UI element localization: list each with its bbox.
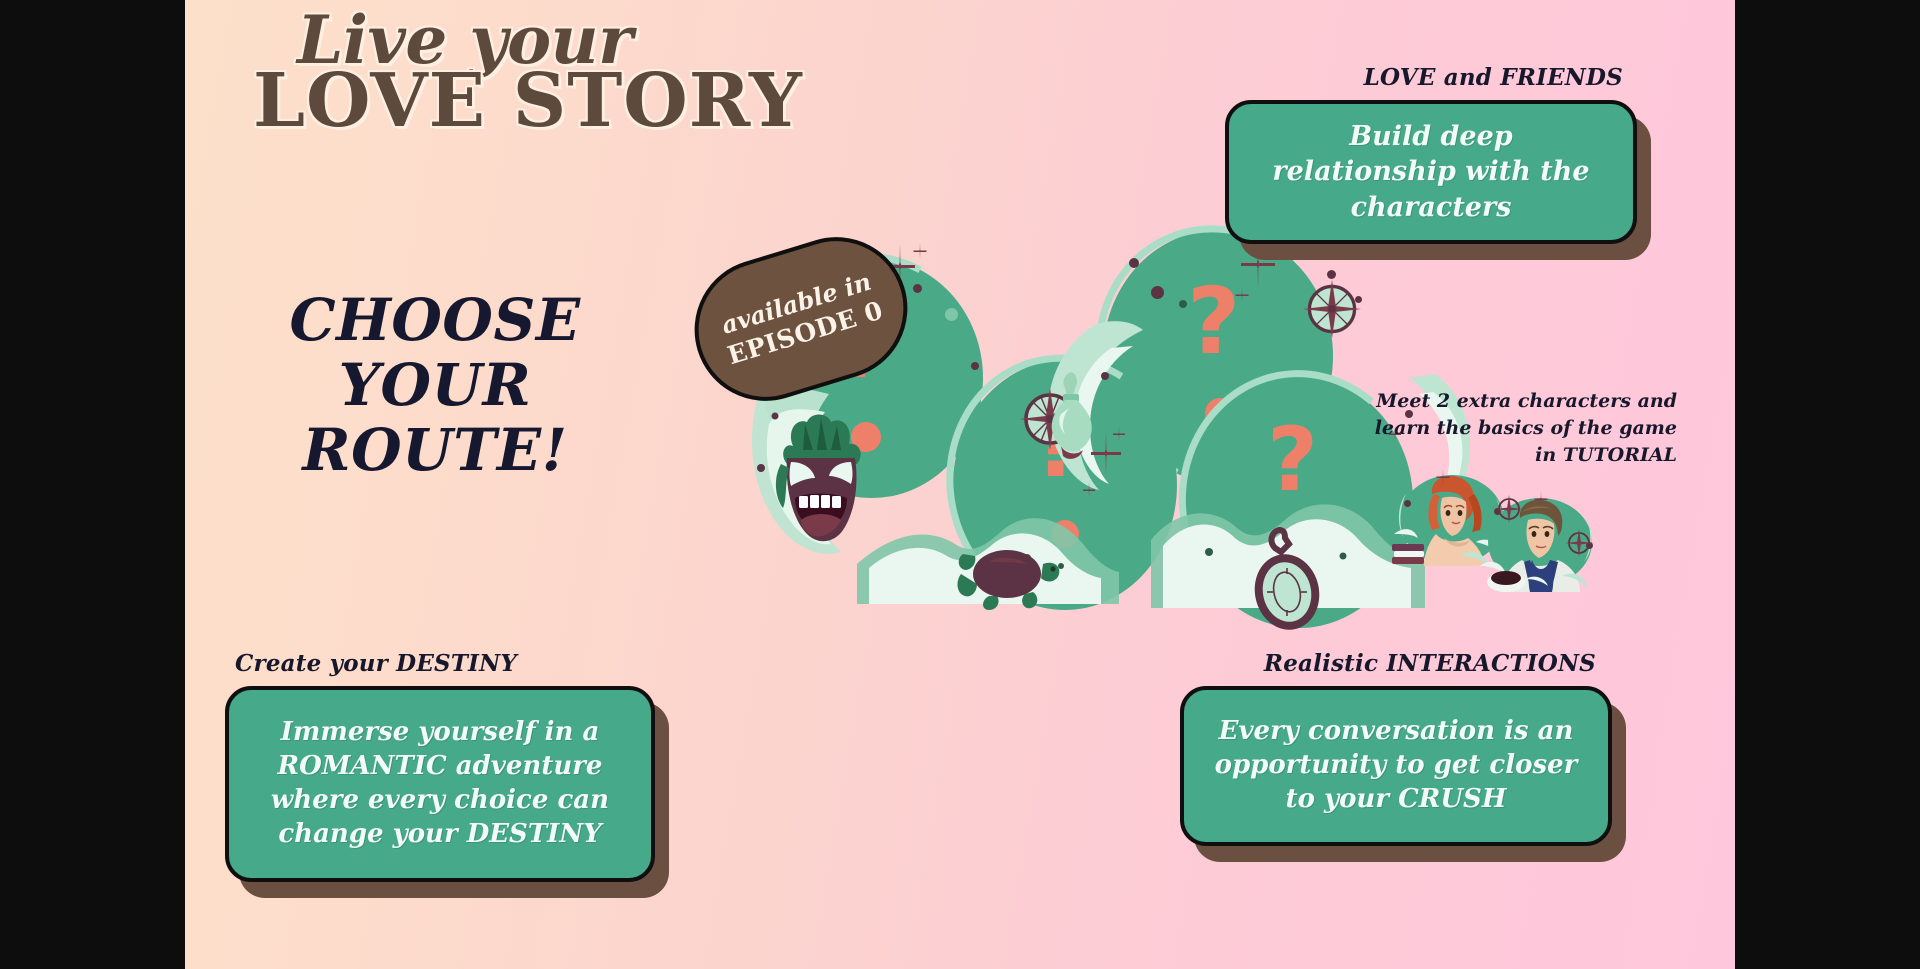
- tiki-mask-icon: [773, 412, 871, 552]
- sparkle-icon: [1241, 238, 1275, 290]
- route-line-2: YOUR: [240, 353, 630, 418]
- compass-rose-icon: [1564, 528, 1594, 558]
- interactions-card-text: Every conversation is an opportunity to …: [1210, 715, 1582, 816]
- letterbox-bar-left: [0, 0, 185, 969]
- sparkle-icon: [1437, 469, 1450, 486]
- interactions-card[interactable]: Every conversation is an opportunity to …: [1180, 686, 1612, 846]
- interactions-label: Realistic INTERACTIONS: [1264, 650, 1596, 677]
- sparkle-icon: [1083, 482, 1095, 498]
- tutorial-character-avatars: [1390, 468, 1600, 593]
- route-line-1: CHOOSE: [240, 288, 630, 353]
- destiny-label: Create your DESTINY: [235, 650, 517, 677]
- sparkle-icon: [914, 243, 927, 260]
- decor-dot: [1151, 286, 1164, 299]
- sparkle-icon: [1236, 287, 1249, 304]
- compass-rose-icon: [1301, 278, 1363, 340]
- love-friends-card-wrapper: LOVE and FRIENDS Build deep relationship…: [1225, 100, 1637, 244]
- page-title: Live your LOVE STORY: [245, 8, 865, 138]
- promo-canvas: Live your LOVE STORY CHOOSE YOUR ROUTE! …: [185, 0, 1735, 969]
- sparkle-icon: [1113, 426, 1125, 442]
- destiny-card[interactable]: Immerse yourself in a ROMANTIC adventure…: [225, 686, 655, 882]
- love-friends-card-text: Build deep relationship with the charact…: [1255, 119, 1607, 224]
- decor-dot: [1129, 258, 1139, 268]
- decor-dot: [971, 362, 979, 370]
- interactions-card-wrapper: Realistic INTERACTIONS Every conversatio…: [1180, 686, 1612, 846]
- decor-dot: [1179, 300, 1187, 308]
- headline-line-2: LOVE STORY: [245, 66, 865, 138]
- destiny-card-text: Immerse yourself in a ROMANTIC adventure…: [255, 716, 625, 851]
- compass-rose-icon: [1494, 494, 1524, 524]
- potion-bottle-icon: [1045, 370, 1103, 466]
- pocket-watch-icon: [1247, 526, 1331, 636]
- love-friends-card[interactable]: Build deep relationship with the charact…: [1225, 100, 1637, 244]
- sea-turtle-icon: [955, 536, 1065, 612]
- decor-dot: [945, 308, 958, 321]
- route-heading: CHOOSE YOUR ROUTE!: [240, 288, 630, 483]
- letterbox-bar-right: [1735, 0, 1920, 969]
- tutorial-description: Meet 2 extra characters and learn the ba…: [1357, 388, 1677, 469]
- love-friends-label: LOVE and FRIENDS: [1364, 64, 1623, 91]
- destiny-card-wrapper: Create your DESTINY Immerse yourself in …: [225, 686, 655, 882]
- route-line-3: ROUTE!: [240, 418, 630, 483]
- screenshot-root: Live your LOVE STORY CHOOSE YOUR ROUTE! …: [0, 0, 1920, 969]
- decor-dot: [1404, 500, 1411, 507]
- sparkle-icon: [1535, 491, 1548, 508]
- route-bubble-2-question-mark: ?: [1187, 276, 1240, 368]
